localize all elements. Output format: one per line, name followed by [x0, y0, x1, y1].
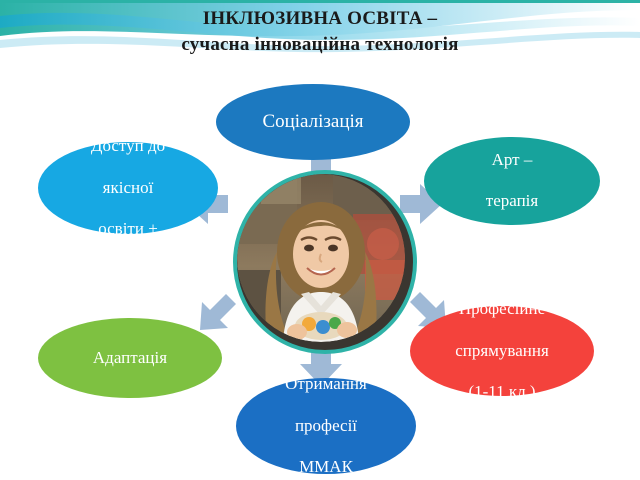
node-art-therapy[interactable]: Арт – терапія [424, 137, 600, 225]
node-access-line-3: освіти + [46, 219, 210, 240]
node-profession-line-2: професії [244, 416, 408, 437]
node-profession-line-1: Отримання [244, 374, 408, 395]
node-profession-label: Отримання професії ММАК [244, 374, 408, 478]
node-professional-direction-label: Професійне спрямування (1-11 кл.) [418, 299, 586, 403]
node-professional-direction[interactable]: Професійне спрямування (1-11 кл.) [410, 306, 594, 396]
node-access-line-2: якісної [46, 178, 210, 199]
node-adaptation-label: Адаптація [46, 348, 214, 369]
photo-girl-smiling-icon [237, 174, 405, 342]
node-professional-direction-line-1: Професійне [418, 299, 586, 320]
node-access-label: Доступ до якісної освіти + [46, 136, 210, 240]
node-profession[interactable]: Отримання професії ММАК [236, 378, 416, 474]
title-line-2: сучасна інноваційна технологія [0, 32, 640, 58]
title-line-1: ІНКЛЮЗИВНА ОСВІТА – [203, 8, 438, 29]
node-art-therapy-line-1: Арт – [432, 150, 592, 171]
center-photo [233, 170, 417, 354]
slide-canvas: ІНКЛЮЗИВНА ОСВІТА – сучасна інноваційна … [0, 0, 640, 480]
node-art-therapy-label: Арт – терапія [432, 150, 592, 212]
node-access[interactable]: Доступ до якісної освіти + [38, 142, 218, 234]
node-art-therapy-line-2: терапія [432, 191, 592, 212]
node-adaptation[interactable]: Адаптація [38, 318, 222, 398]
node-professional-direction-line-2: спрямування [418, 341, 586, 362]
node-professional-direction-line-3: (1-11 кл.) [418, 382, 586, 403]
arrow-down-left-icon [196, 288, 242, 334]
node-socialization-label: Соціалізація [224, 110, 402, 133]
node-profession-line-3: ММАК [244, 457, 408, 478]
node-access-line-1: Доступ до [46, 136, 210, 157]
node-socialization[interactable]: Соціалізація [216, 84, 410, 160]
page-title: ІНКЛЮЗИВНА ОСВІТА – сучасна інноваційна … [0, 6, 640, 58]
